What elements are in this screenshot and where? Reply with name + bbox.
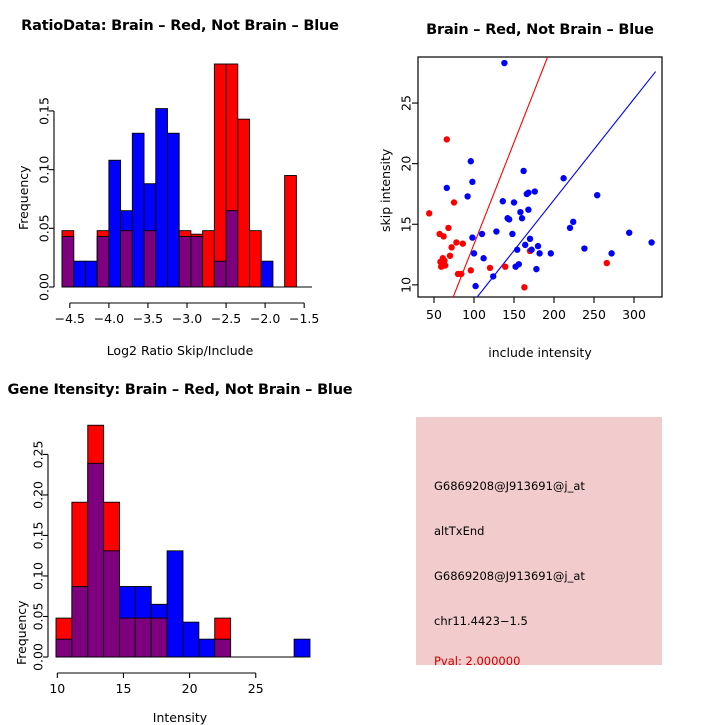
- y-axis-tick-label: 0.10: [37, 156, 52, 184]
- y-axis-tick-label: 25: [399, 95, 414, 111]
- event-type: altTxEnd: [434, 524, 484, 538]
- scatter-point: [511, 199, 517, 205]
- scatter-content: [426, 57, 656, 297]
- hist-bar: [74, 261, 86, 287]
- hist-bar-overlap: [144, 231, 156, 287]
- scatter-point: [502, 263, 508, 269]
- scatter-point: [458, 271, 464, 277]
- scatter-point: [525, 190, 531, 196]
- y-axis-tick-label: 0.00: [37, 273, 52, 301]
- hist-bar-overlap: [72, 587, 88, 658]
- locus: chr11.4423−1.5: [434, 614, 528, 628]
- scatter-point: [444, 136, 450, 142]
- scatter-point: [440, 233, 446, 239]
- scatter-point: [519, 215, 525, 221]
- hist-bar: [167, 551, 183, 657]
- y-axis-tick-label: 0.00: [31, 643, 46, 671]
- scatter-point: [468, 267, 474, 273]
- panel-ratio-histogram: RatioData: Brain – Red, Not Brain – Blue…: [0, 0, 360, 360]
- ratio-histogram-plot: 0.000.050.100.15−4.5−4.0−3.5−3.0−2.5−2.0…: [0, 0, 360, 360]
- hist-bar: [109, 160, 121, 287]
- y-axis-tick-label: 0.25: [31, 440, 46, 468]
- probeset-id-repeat: G6869208@J913691@j_at: [434, 569, 585, 583]
- x-axis-tick-label: 100: [462, 307, 486, 322]
- hist-bar: [167, 133, 179, 287]
- x-axis-tick-label: 10: [49, 681, 65, 696]
- x-axis-tick-label: 250: [582, 307, 606, 322]
- scatter-point: [608, 250, 614, 256]
- y-axis-tick-label: 0.15: [31, 522, 46, 550]
- scatter-point: [532, 188, 538, 194]
- hist-bar: [132, 133, 144, 287]
- scatter-point: [487, 265, 493, 271]
- panel-gene-histogram: Gene Itensity: Brain – Red, Not Brain – …: [0, 360, 360, 720]
- hist-bar: [294, 639, 310, 657]
- hist-bar-overlap: [56, 639, 72, 657]
- scatter-point: [516, 261, 522, 267]
- scatter-point: [594, 192, 600, 198]
- scatter-point: [500, 198, 506, 204]
- y-axis-tick-label: 0.15: [37, 97, 52, 125]
- x-axis-tick-label: −1.5: [289, 311, 319, 326]
- x-axis-tick-label: 20: [182, 681, 198, 696]
- notbrain-fit-line: [477, 72, 655, 297]
- hist-bar: [203, 231, 215, 287]
- x-axis-tick-label: 300: [622, 307, 646, 322]
- x-axis-tick-label: −4.0: [94, 311, 124, 326]
- scatter-point: [525, 207, 531, 213]
- panel-annotation-info: G6869208@J913691@j_ataltTxEndG6869208@J9…: [360, 360, 720, 720]
- scatter-point: [493, 228, 499, 234]
- x-axis-tick-label: 50: [426, 307, 442, 322]
- scatter-point: [533, 266, 539, 272]
- x-axis-tick-label: −3.0: [172, 311, 202, 326]
- scatter-point: [536, 250, 542, 256]
- scatter-point: [469, 234, 475, 240]
- hist-bar-overlap: [121, 231, 133, 287]
- hist-bar: [238, 119, 250, 287]
- hist-bar-overlap: [135, 618, 151, 657]
- gene-histogram-plot: 0.000.050.100.150.200.2510152025: [0, 360, 360, 720]
- hist-bar: [156, 109, 168, 287]
- scatter-point: [447, 253, 453, 259]
- scatter-point: [506, 216, 512, 222]
- hist-bar-overlap: [62, 237, 74, 287]
- x-axis-tick-label: 200: [542, 307, 566, 322]
- hist-bar-overlap: [226, 211, 238, 287]
- hist-bar: [261, 261, 273, 287]
- x-axis-tick-label: −3.5: [133, 311, 163, 326]
- scatter-point: [560, 175, 566, 181]
- pval: Pval: 2.000000: [434, 654, 520, 668]
- y-axis-tick-label: 10: [399, 277, 414, 293]
- x-axis-tick-label: −2.0: [250, 311, 280, 326]
- scatter-point: [522, 242, 528, 248]
- scatter-point: [570, 219, 576, 225]
- hist-bar-overlap: [119, 618, 135, 657]
- hist-bar-overlap: [97, 237, 109, 287]
- scatter-point: [444, 185, 450, 191]
- y-axis-tick-label: 0.05: [37, 214, 52, 242]
- hist-bar-overlap: [104, 551, 120, 657]
- y-axis-tick-label: 0.05: [31, 603, 46, 631]
- scatter-point: [451, 199, 457, 205]
- hist-bar: [183, 622, 199, 657]
- y-axis-tick-label: 20: [399, 156, 414, 172]
- y-axis-tick-label: 15: [399, 216, 414, 232]
- scatter-plot: 1015202550100150200250300: [360, 0, 720, 360]
- scatter-point: [480, 255, 486, 261]
- scatter-point: [527, 236, 533, 242]
- scatter-point: [509, 231, 515, 237]
- brain-fit-line: [453, 57, 547, 297]
- probeset-id-top: G6869208@J913691@j_at: [434, 479, 585, 493]
- scatter-point: [426, 210, 432, 216]
- scatter-point: [472, 283, 478, 289]
- scatter-point: [548, 250, 554, 256]
- hist-bar-overlap: [214, 261, 226, 287]
- scatter-point: [535, 243, 541, 249]
- hist-bar-overlap: [179, 237, 191, 287]
- scatter-point: [514, 247, 520, 253]
- scatter-point: [604, 260, 610, 266]
- hist-bar: [85, 261, 97, 287]
- scatter-point: [442, 262, 448, 268]
- x-axis-tick-label: 25: [248, 681, 264, 696]
- annotation-box: G6869208@J913691@j_ataltTxEndG6869208@J9…: [416, 417, 662, 665]
- scatter-point: [528, 247, 534, 253]
- scatter-frame: [418, 57, 662, 297]
- hist-bar: [214, 64, 226, 287]
- hist-bar-overlap: [151, 618, 167, 657]
- scatter-point: [501, 60, 507, 66]
- hist-bar-overlap: [88, 463, 104, 657]
- scatter-point: [581, 245, 587, 251]
- hist-bar-overlap: [215, 639, 231, 657]
- scatter-point: [520, 168, 526, 174]
- x-axis-tick-label: −2.5: [211, 311, 241, 326]
- scatter-point: [468, 158, 474, 164]
- scatter-point: [517, 209, 523, 215]
- hist-bar: [285, 176, 297, 288]
- scatter-point: [445, 225, 451, 231]
- x-axis-tick-label: 150: [502, 307, 526, 322]
- scatter-point: [648, 239, 654, 245]
- panel-intensity-scatter: Brain – Red, Not Brain – Blue skip inten…: [360, 0, 720, 360]
- scatter-point: [469, 179, 475, 185]
- scatter-point: [521, 284, 527, 290]
- scatter-point: [464, 193, 470, 199]
- hist-bar: [199, 639, 215, 657]
- figure-canvas: RatioData: Brain – Red, Not Brain – Blue…: [0, 0, 720, 720]
- scatter-point: [479, 231, 485, 237]
- scatter-point: [626, 230, 632, 236]
- scatter-point: [453, 239, 459, 245]
- scatter-point: [490, 273, 496, 279]
- hist-bar: [250, 231, 262, 287]
- scatter-point: [471, 250, 477, 256]
- scatter-point: [448, 244, 454, 250]
- x-axis-tick-label: −4.5: [55, 311, 85, 326]
- x-axis-tick-label: 15: [116, 681, 132, 696]
- y-axis-tick-label: 0.20: [31, 481, 46, 509]
- scatter-point: [567, 225, 573, 231]
- y-axis-tick-label: 0.10: [31, 562, 46, 590]
- scatter-point: [460, 240, 466, 246]
- hist-bar-overlap: [191, 237, 203, 287]
